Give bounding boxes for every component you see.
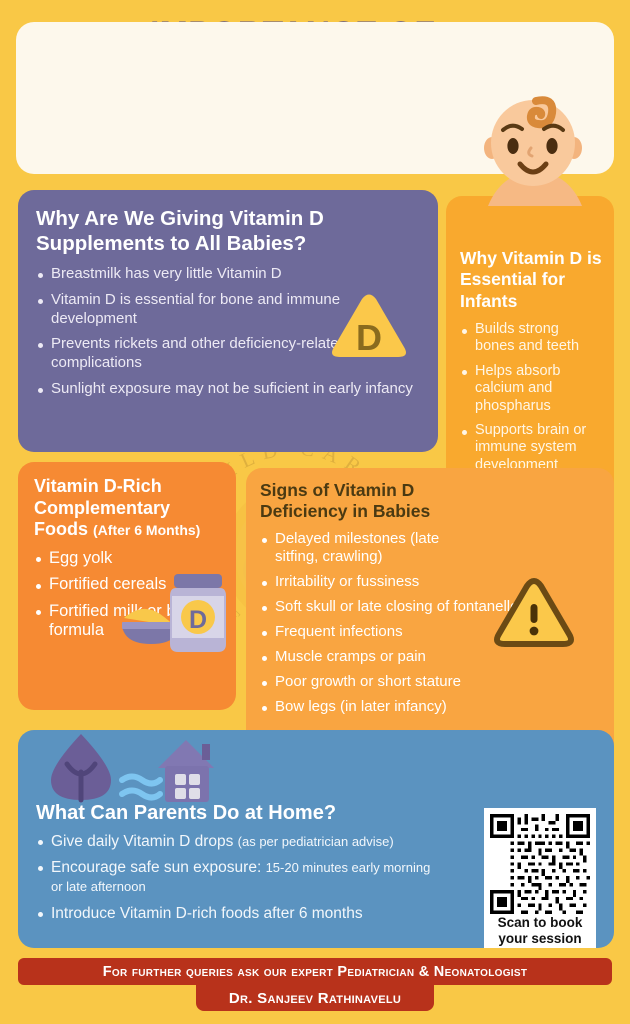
list-item: Helps absorb calcium and phospharus: [460, 363, 602, 415]
list-item: Encourage safe sun exposure: 15-20 minut…: [36, 858, 436, 896]
jar-letter: D: [189, 606, 207, 634]
list-item: Muscle cramps or pain: [260, 648, 604, 666]
home-bullet-sub: (as per pediatrician advise): [238, 834, 394, 849]
infographic-page: CHILD CARE CLINIC THE COMPLETE CARE: [0, 0, 630, 1024]
home-bullet-main: Introduce Vitamin D-rich foods after 6 m…: [51, 905, 363, 922]
list-item: Builds strong bones and teeth: [460, 321, 602, 356]
footer-line-2: Dr. Sanjeev Rathinavelu: [229, 990, 401, 1007]
list-item: Delayed milestones (late sitfing, crawli…: [260, 530, 460, 566]
list-item: Sunlight exposure may not be suficient i…: [36, 380, 420, 399]
list-item: Bow legs (in later infancy): [260, 698, 604, 716]
qr-code-block[interactable]: Scan to book your session: [484, 808, 596, 948]
warning-triangle-icon: [492, 578, 576, 650]
footer-line-1: For further queries ask our expert Pedia…: [103, 964, 528, 980]
baby-food-jar-icon: D: [122, 556, 238, 664]
list-item: Poor growth or short stature: [260, 673, 604, 691]
vitamin-d-triangle-icon: D: [326, 292, 412, 362]
why-supplements-title: Why Are We Giving Vitamin D Supplements …: [36, 206, 420, 256]
triangle-letter: D: [356, 317, 382, 358]
home-bullet-main: Encourage safe sun exposure:: [51, 859, 266, 876]
qr-code-image[interactable]: [490, 814, 590, 914]
why-essential-list: Builds strong bones and teeth Helps abso…: [460, 321, 602, 474]
footer-doctor-bar: Dr. Sanjeev Rathinavelu: [196, 985, 434, 1011]
home-bullet-main: Give daily Vitamin D drops: [51, 833, 238, 850]
list-item: Breastmilk has very little Vitamin D: [36, 265, 420, 284]
qr-caption-line-2: your session: [490, 931, 590, 946]
footer-queries-bar: For further queries ask our expert Pedia…: [18, 958, 612, 985]
foods-title-sub: (After 6 Months): [93, 522, 200, 538]
signs-title: Signs of Vitamin D Deficiency in Babies: [260, 480, 440, 522]
why-essential-title: Why Vitamin D is Essential for Infants: [460, 248, 602, 312]
baby-face-icon: [470, 88, 600, 218]
home-sun-exposure-icon: [34, 728, 214, 816]
foods-title: Vitamin D-Rich Complementary Foods (Afte…: [34, 476, 222, 541]
qr-caption-line-1: Scan to book: [490, 915, 590, 930]
list-item: Supports brain or immune system developm…: [460, 422, 602, 474]
